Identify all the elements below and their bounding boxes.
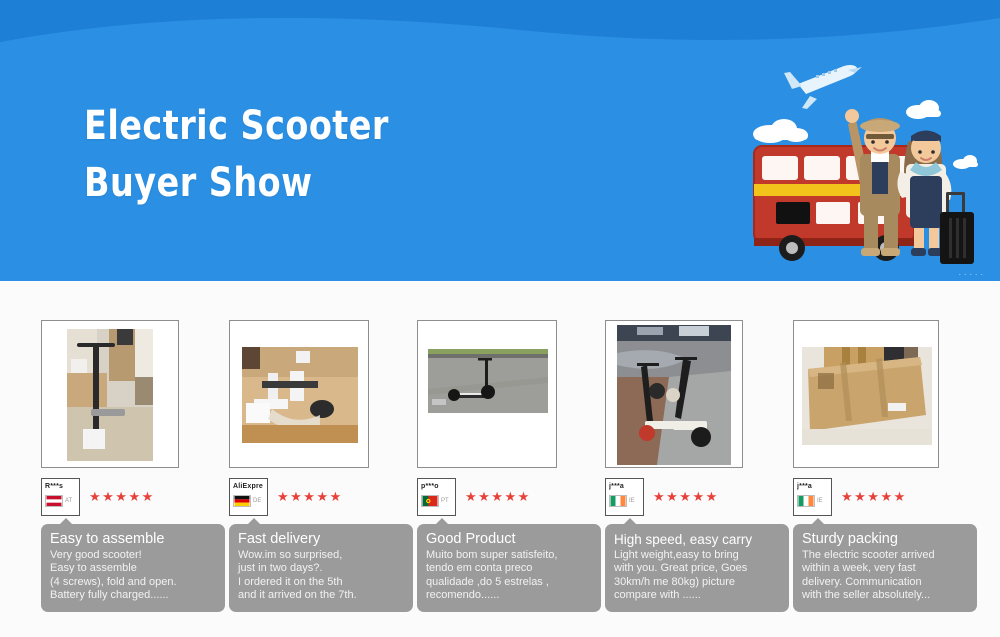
rating-stars: ★★★★★ [89, 490, 155, 504]
rating-stars: ★★★★★ [277, 490, 343, 504]
review-body: Wow.im so surprised, just in two days?. … [238, 549, 405, 603]
reviewer-badge: R***s AT [41, 478, 80, 516]
reviewer-badge: j***a IE [793, 478, 832, 516]
review-photo-frame[interactable] [417, 320, 557, 468]
review-card[interactable]: R***s AT ★★★★★ Easy to assemble Very goo… [41, 281, 231, 637]
reviewer-badge: j***a IE [605, 478, 644, 516]
review-card[interactable]: p***o PT ★★★★★ Good Product Muito bom su… [417, 281, 607, 637]
reviewer-country-code: PT [441, 497, 449, 506]
page-title: Electric Scooter Buyer Show [84, 98, 389, 212]
review-photo-frame[interactable] [41, 320, 179, 468]
review-bubble: Fast delivery Wow.im so surprised, just … [229, 524, 413, 612]
review-photo-frame[interactable] [793, 320, 939, 468]
reviewer-username: AliExpre [233, 482, 265, 491]
rating-stars: ★★★★★ [465, 490, 531, 504]
reviewer-username: p***o [421, 482, 453, 491]
travelers-bus-illustration [740, 42, 990, 281]
review-title: Fast delivery [238, 531, 405, 548]
airplane-icon [784, 65, 862, 109]
reviewer-country-code: DE [253, 497, 261, 506]
reviewer-country-code: AT [65, 497, 72, 506]
review-bubble: Good Product Muito bom super satisfeito,… [417, 524, 601, 612]
shipping-box-photo [802, 347, 932, 445]
reviewer-country-code: IE [817, 497, 823, 506]
review-card[interactable]: j***a IE ★★★★★ Sturdy packing The electr… [793, 281, 983, 637]
review-body: Muito bom super satisfeito, tendo em con… [426, 549, 593, 603]
review-bubble: High speed, easy carry Light weight,easy… [605, 524, 789, 612]
reviewer-country-code: IE [629, 497, 635, 506]
cloud-icon [906, 100, 941, 119]
review-card-row: R***s AT ★★★★★ Easy to assemble Very goo… [0, 281, 1000, 637]
reviewer-username: j***a [609, 482, 641, 491]
cloud-icon [753, 119, 808, 143]
review-body: Very good scooter! Easy to assemble (4 s… [50, 549, 217, 603]
review-photo-frame[interactable] [229, 320, 369, 468]
scooter-indoors-photo [49, 329, 171, 461]
buyer-show-page: Electric Scooter Buyer Show [0, 0, 1000, 637]
reviewer-username: R***s [45, 482, 77, 491]
flag-germany [233, 495, 251, 507]
review-card[interactable]: AliExpre DE ★★★★★ Fast delivery Wow.im s… [229, 281, 419, 637]
review-bubble: Sturdy packing The electric scooter arri… [793, 524, 977, 612]
flag-portugal [421, 495, 439, 507]
scooter-unboxed-parts-photo [242, 347, 358, 443]
cloud-icon [953, 155, 978, 169]
review-photo-frame[interactable] [605, 320, 743, 468]
reviewer-badge: AliExpre DE [229, 478, 268, 516]
flag-ireland [609, 495, 627, 507]
review-bubble: Easy to assemble Very good scooter! Easy… [41, 524, 225, 612]
hero-banner: Electric Scooter Buyer Show [0, 0, 1000, 281]
rating-stars: ★★★★★ [841, 490, 907, 504]
review-card[interactable]: j***a IE ★★★★★ High speed, easy carry Li… [605, 281, 795, 637]
carousel-dots[interactable]: ..... [958, 267, 986, 277]
reviewer-username: j***a [797, 482, 829, 491]
reviewer-badge: p***o PT [417, 478, 456, 516]
flag-ireland [797, 495, 815, 507]
review-title: Good Product [426, 531, 593, 548]
review-body: Light weight,easy to bring with you. Gre… [614, 549, 781, 603]
two-scooters-wet-pavement-photo [617, 325, 731, 465]
flag-austria [45, 495, 63, 507]
review-title: Easy to assemble [50, 531, 217, 548]
review-title: Sturdy packing [802, 531, 969, 548]
rating-stars: ★★★★★ [653, 490, 719, 504]
review-title: High speed, easy carry [614, 531, 781, 548]
review-body: The electric scooter arrived within a we… [802, 549, 969, 603]
scooter-on-asphalt-photo [428, 349, 548, 413]
